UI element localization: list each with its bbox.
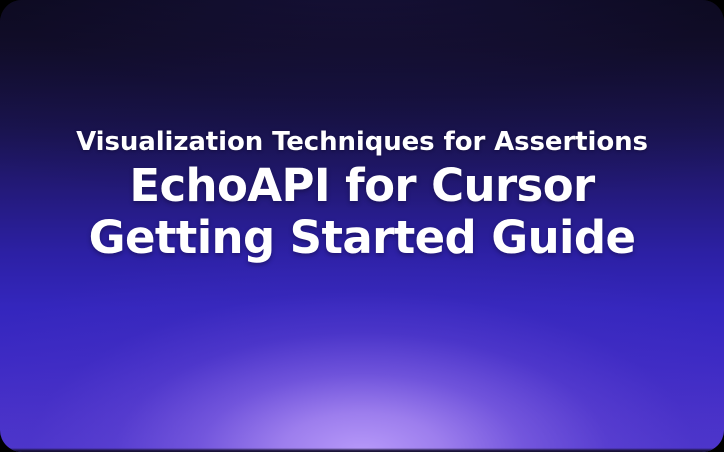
hero-text-block: Visualization Techniques for Assertions … [0, 128, 724, 264]
hero-eyebrow-text: Visualization Techniques for Assertions [22, 128, 702, 156]
bottom-edge-rim [0, 448, 724, 452]
hero-headline-line-2: Getting Started Guide [22, 212, 702, 264]
hero-headline-line-1: EchoAPI for Cursor [22, 160, 702, 212]
hero-banner-card: Visualization Techniques for Assertions … [0, 0, 724, 452]
